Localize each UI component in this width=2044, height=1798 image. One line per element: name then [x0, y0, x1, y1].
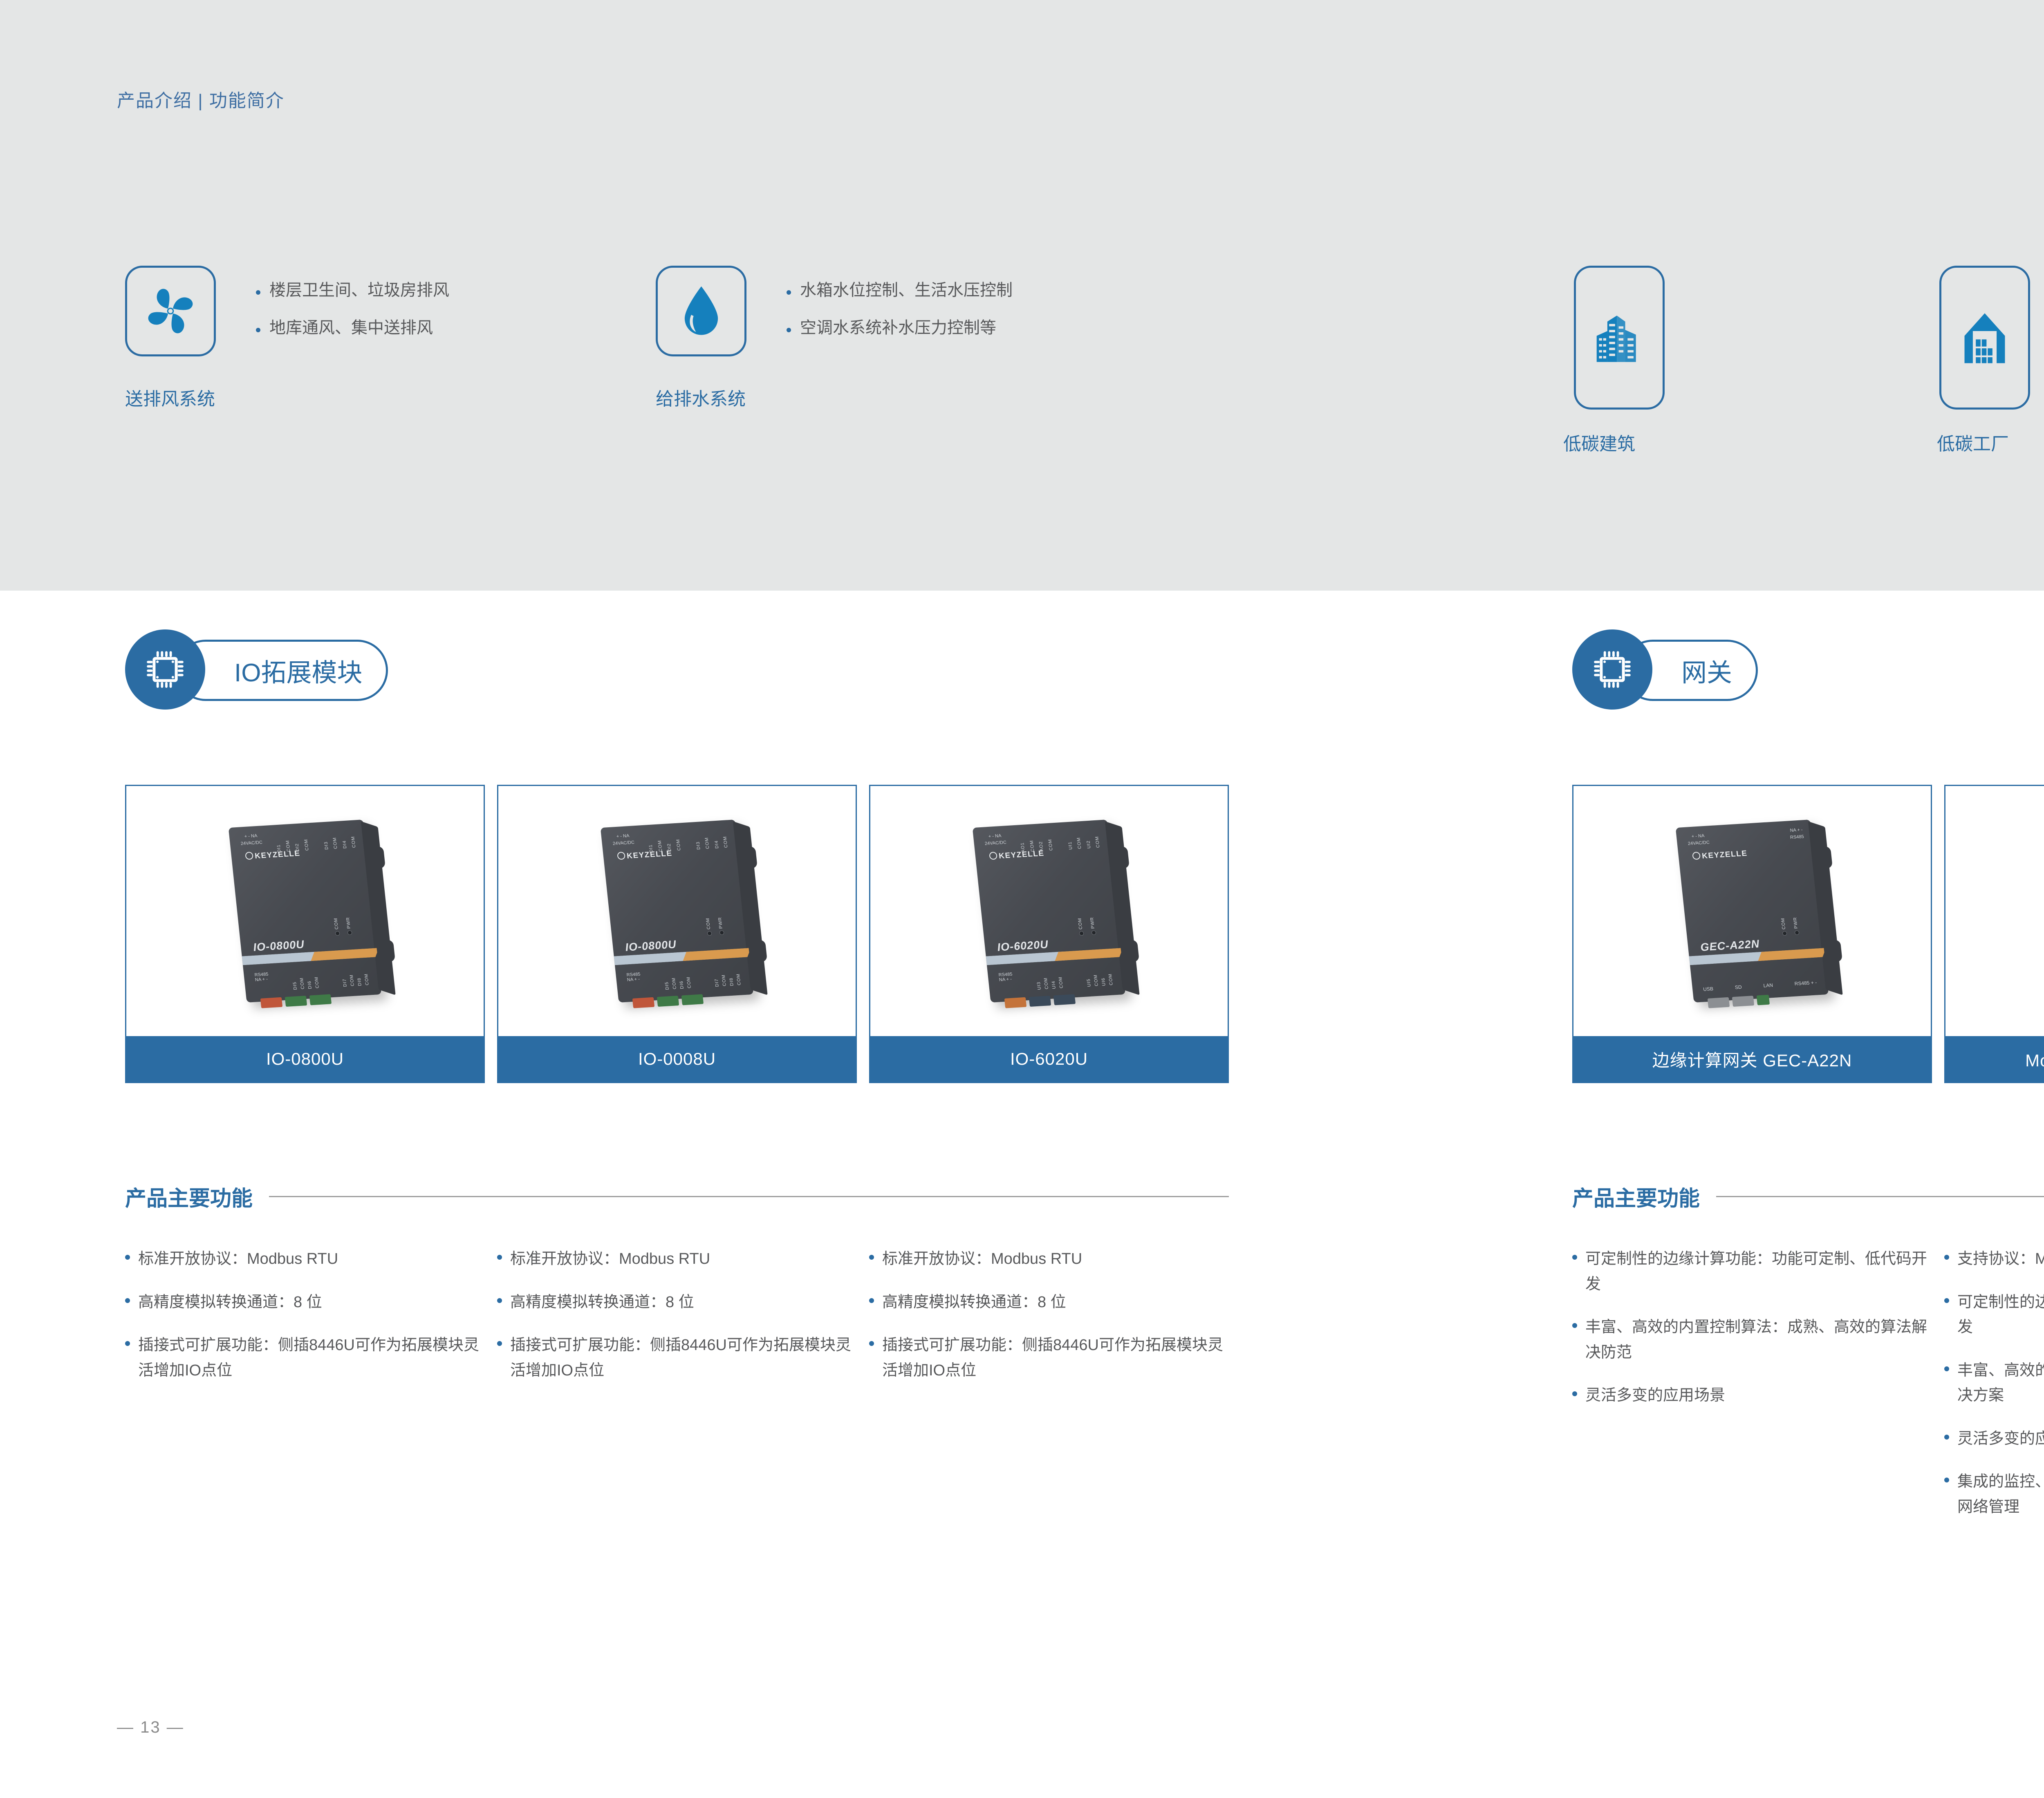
model-silkscreen: IO-0800U [253, 938, 305, 954]
scenario-ventilation-bullets: 楼层卫生间、垃圾房排风 地库通风、集中送排风 [256, 281, 449, 356]
product-card-io-0008u[interactable]: + - NA 24VAC/DC DI1 COM DI2 COM [497, 785, 857, 1083]
bullet-dot [497, 1255, 502, 1260]
list-item: 灵活多变的应用场景 [1572, 1383, 1932, 1408]
product-image-gwr-a25n: + - NA 24VAC/DC + - + - + - + - RS485-2 … [1945, 786, 2044, 1036]
bullet-dot [869, 1341, 874, 1346]
scenario-ventilation-label: 送排风系统 [125, 384, 215, 410]
list-item: 标准开放协议：Modbus RTU [497, 1247, 857, 1272]
feature-column: 支持协议：Modbus RTU 可定制性的边缘计算功能：功能可定制、低代码开发 … [1944, 1247, 2044, 1538]
list-item: 插接式可扩展功能：侧插8446U可作为拓展模块灵活增加IO点位 [125, 1333, 485, 1383]
list-item: 可定制性的边缘计算功能：功能可定制、低代码开发 [1944, 1290, 2044, 1340]
bullet-dot [256, 290, 260, 295]
status-leds: COM PWR [1780, 917, 1800, 936]
bullet-dot [256, 328, 260, 332]
page-header-left: 产品介绍 | 功能简介 [117, 86, 285, 112]
list-item: 标准开放协议：Modbus RTU [125, 1247, 485, 1272]
bullet-dot [1944, 1366, 1949, 1371]
status-leds: COM PWR [705, 917, 724, 936]
feature-columns-gateway: 可定制性的边缘计算功能：功能可定制、低代码开发 丰富、高效的内置控制算法：成熟、… [1572, 1247, 2044, 1538]
product-name: IO-6020U [870, 1036, 1228, 1082]
chip-icon [125, 629, 205, 710]
bottom-terminal-labels: RS485 NA + - DI5 COM DI6 COM [254, 966, 370, 992]
product-image-io-0008u: + - NA 24VAC/DC DI1 COM DI2 COM [498, 786, 856, 1036]
bullet-dot [1572, 1323, 1577, 1328]
list-item: 丰富、高效的内置控制算法：成熟、高效的算法解决防范 [1572, 1315, 1932, 1365]
bullet-dot [497, 1298, 502, 1303]
factory-icon [1941, 268, 2028, 408]
feature-heading-gateway: 产品主要功能 [1572, 1181, 2044, 1212]
bullet-dot [125, 1298, 130, 1303]
gateway-product-cards: + - NA 24VAC/DC NA + - RS485 KEYZELLE [1572, 785, 2044, 1083]
list-item: 标准开放协议：Modbus RTU [869, 1247, 1229, 1272]
bullet-dot [869, 1298, 874, 1303]
bullet-dot [1572, 1255, 1577, 1260]
product-name: IO-0800U [126, 1036, 484, 1082]
bullet-dot [787, 328, 791, 332]
top-terminal-labels-2: UI1 COM UI2 COM [1065, 826, 1102, 850]
connector-block [1708, 995, 1770, 1008]
list-item: 可定制性的边缘计算功能：功能可定制、低代码开发 [1572, 1247, 1932, 1297]
feature-heading-io: 产品主要功能 [125, 1181, 1229, 1212]
bottom-terminal-labels: RS485 NA + - DI5 COM DI6 COM [626, 966, 742, 992]
product-name: Modbus网关 GWR-A25N [1945, 1036, 2044, 1082]
io-product-cards: + - NA 24VAC/DC DI1 COM DI2 COM [125, 785, 1229, 1083]
product-image-gec-a22n: + - NA 24VAC/DC NA + - RS485 KEYZELLE [1573, 786, 1931, 1036]
bullet-dot [1944, 1255, 1949, 1260]
office-buildings-icon [1576, 268, 1663, 408]
bullet-dot [1944, 1298, 1949, 1303]
bullet-dot [125, 1255, 130, 1260]
brochure-page: 产品介绍 | 功能简介 产品介绍 | 功能简介 楼层卫生间、垃圾房排风 [0, 0, 2044, 1798]
connector-block [1004, 994, 1076, 1008]
list-item: 水箱水位控制、生活水压控制 [787, 281, 1013, 299]
bullet-dot [1944, 1478, 1949, 1482]
list-item: 高精度模拟转换通道：8 位 [125, 1290, 485, 1315]
section-title: 网关 [1681, 652, 1732, 689]
feature-column: 标准开放协议：Modbus RTU 高精度模拟转换通道：8 位 插接式可扩展功能… [869, 1247, 1229, 1401]
connector-block [260, 994, 332, 1008]
list-item: 高精度模拟转换通道：8 位 [869, 1290, 1229, 1315]
list-item: 灵活多变的应用场景 [1944, 1426, 2044, 1452]
chip-icon [1572, 629, 1652, 710]
application-label: 低碳工厂 [1937, 429, 2009, 455]
list-item: 高精度模拟转换通道：8 位 [497, 1290, 857, 1315]
divider [269, 1196, 1229, 1197]
top-terminal-labels-2: DI3 COM DI4 COM [321, 826, 358, 850]
factory-icon-frame [1939, 266, 2030, 410]
list-item: 丰富、高效的内置控制算法：成熟、高效的算法解决方案 [1944, 1358, 2044, 1408]
product-card-gwr-a25n[interactable]: + - NA 24VAC/DC + - + - + - + - RS485-2 … [1944, 785, 2044, 1083]
bullet-dot [869, 1255, 874, 1260]
top-terminal-labels-2: DI3 COM DI4 COM [693, 826, 730, 850]
list-item: 支持协议：Modbus RTU [1944, 1247, 2044, 1272]
model-silkscreen: IO-6020U [997, 938, 1049, 954]
feature-columns-io: 标准开放协议：Modbus RTU 高精度模拟转换通道：8 位 插接式可扩展功能… [125, 1247, 1229, 1401]
divider [1716, 1196, 2044, 1197]
port-labels: USB SD LAN RS485 + - [1703, 980, 1817, 992]
section-title-pill: IO拓展模块 [175, 640, 388, 701]
power-terminal-label: + - NA 24VAC/DC [1687, 832, 1710, 847]
product-card-io-0800u[interactable]: + - NA 24VAC/DC DI1 COM DI2 COM [125, 785, 485, 1083]
status-leds: COM PWR [1077, 917, 1096, 936]
model-silkscreen: GEC-A22N [1700, 938, 1760, 954]
product-card-gec-a22n[interactable]: + - NA 24VAC/DC NA + - RS485 KEYZELLE [1572, 785, 1932, 1083]
section-title: IO拓展模块 [234, 652, 362, 689]
application-label: 低碳建筑 [1563, 429, 1635, 455]
scenario-water-bullets: 水箱水位控制、生活水压控制 空调水系统补水压力控制等 [787, 281, 1013, 356]
model-silkscreen: IO-0800U [625, 938, 677, 954]
rs485-terminal-label: NA + - RS485 [1789, 826, 1804, 841]
product-name: IO-0008U [498, 1036, 856, 1082]
product-image-io-0800u: + - NA 24VAC/DC DI1 COM DI2 COM [126, 786, 484, 1036]
office-buildings-icon-frame [1574, 266, 1665, 410]
bullet-dot [125, 1341, 130, 1346]
page-number-left: — 13 — [117, 1718, 184, 1737]
water-drop-icon [658, 268, 744, 354]
feature-column: 标准开放协议：Modbus RTU 高精度模拟转换通道：8 位 插接式可扩展功能… [125, 1247, 485, 1401]
bullet-dot [787, 290, 791, 295]
bottom-terminal-labels: RS485 NA + - UI3 COM UI4 COM [998, 966, 1114, 992]
scenario-water-label: 给排水系统 [656, 384, 746, 410]
list-item: 插接式可扩展功能：侧插8446U可作为拓展模块灵活增加IO点位 [497, 1333, 857, 1383]
list-item: 插接式可扩展功能：侧插8446U可作为拓展模块灵活增加IO点位 [869, 1333, 1229, 1383]
list-item: 集成的监控、数据记录、能耗计量、报警、调度和网络管理 [1944, 1469, 2044, 1520]
feature-column: 标准开放协议：Modbus RTU 高精度模拟转换通道：8 位 插接式可扩展功能… [497, 1247, 857, 1401]
status-leds: COM PWR [333, 917, 352, 936]
bullet-dot [1944, 1435, 1949, 1440]
feature-column: 可定制性的边缘计算功能：功能可定制、低代码开发 丰富、高效的内置控制算法：成熟、… [1572, 1247, 1932, 1538]
fan-icon [127, 268, 214, 354]
water-drop-icon-frame [656, 266, 746, 356]
list-item: 楼层卫生间、垃圾房排风 [256, 281, 449, 299]
connector-block [632, 994, 704, 1008]
bullet-dot [1572, 1391, 1577, 1396]
list-item: 地库通风、集中送排风 [256, 319, 449, 337]
product-image-io-6020u: + - NA 24VAC/DC AO1 COM AO2 COM [870, 786, 1228, 1036]
brand-logo: KEYZELLE [1692, 849, 1748, 862]
product-card-io-6020u[interactable]: + - NA 24VAC/DC AO1 COM AO2 COM [869, 785, 1229, 1083]
fan-icon-frame [125, 266, 216, 356]
list-item: 空调水系统补水压力控制等 [787, 319, 1013, 337]
product-name: 边缘计算网关 GEC-A22N [1573, 1036, 1931, 1082]
bullet-dot [497, 1341, 502, 1346]
